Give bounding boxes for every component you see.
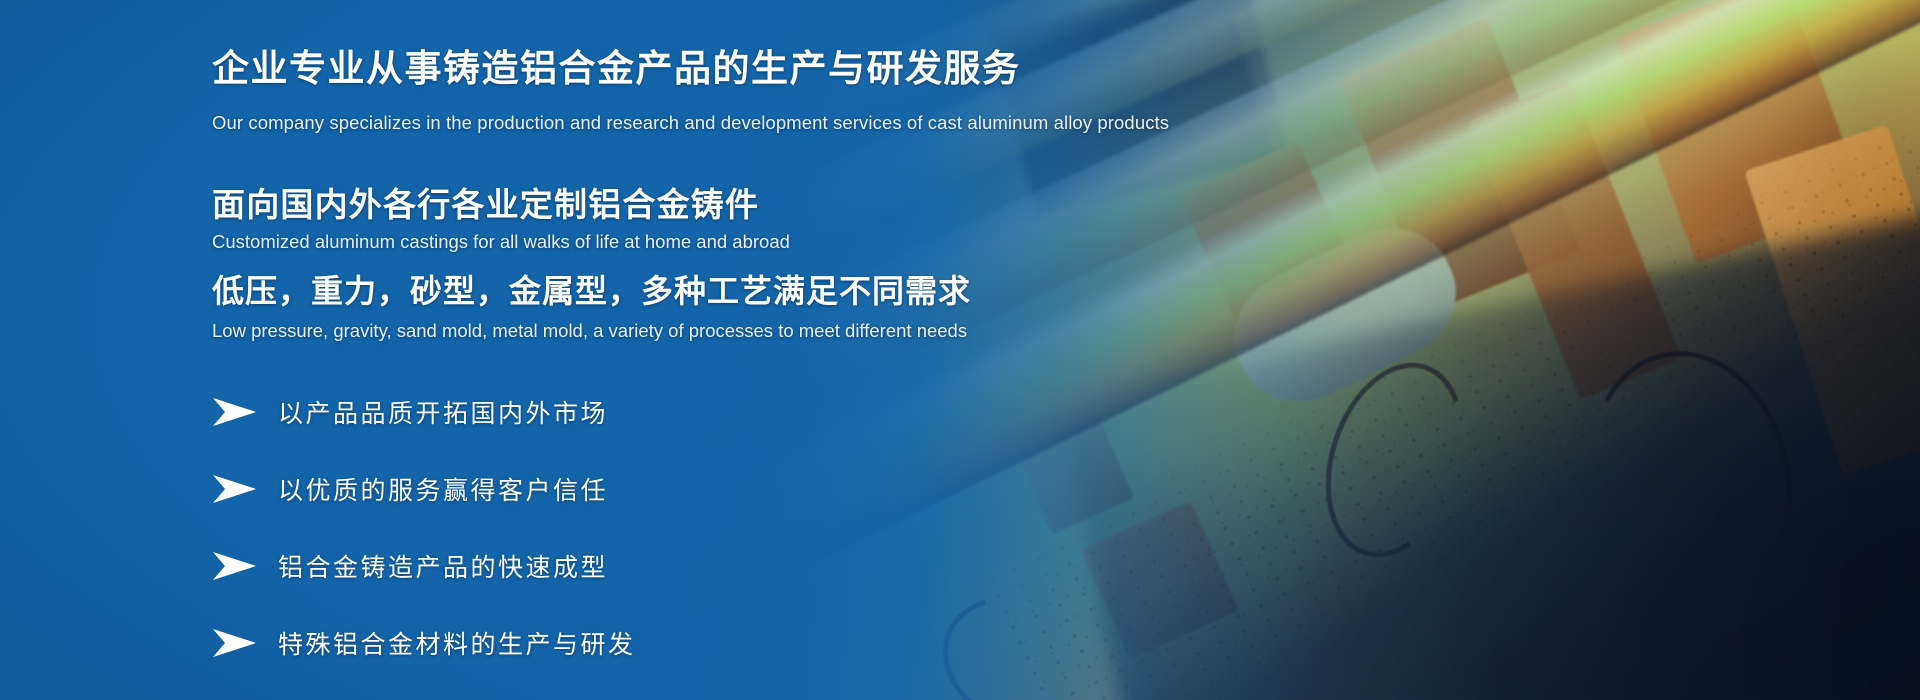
feature-list-item-label: 以产品品质开拓国内外市场 <box>278 394 608 430</box>
arrow-right-icon <box>212 474 256 504</box>
feature-list-item: 以优质的服务赢得客户信任 <box>212 465 832 513</box>
hero-banner: 企业专业从事铸造铝合金产品的生产与研发服务 Our company specia… <box>0 0 1920 700</box>
headline-primary-cn: 企业专业从事铸造铝合金产品的生产与研发服务 <box>212 48 1021 91</box>
headline-primary-en: Our company specializes in the productio… <box>212 112 1169 134</box>
feature-list-item: 特殊铝合金材料的生产与研发 <box>212 619 832 667</box>
feature-list: 以产品品质开拓国内外市场 以优质的服务赢得客户信任 铝合金铸造产品的快速成型 特… <box>212 388 832 696</box>
arrow-right-icon <box>212 551 256 581</box>
feature-list-item-label: 特殊铝合金材料的生产与研发 <box>278 625 636 661</box>
banner-content: 企业专业从事铸造铝合金产品的生产与研发服务 Our company specia… <box>212 0 1512 700</box>
headline-secondary-en: Customized aluminum castings for all wal… <box>212 231 790 253</box>
arrow-right-icon <box>212 628 256 658</box>
feature-list-item-label: 以优质的服务赢得客户信任 <box>278 471 608 507</box>
arrow-right-icon <box>212 397 256 427</box>
headline-tertiary-cn: 低压，重力，砂型，金属型，多种工艺满足不同需求 <box>212 266 971 312</box>
feature-list-item-label: 铝合金铸造产品的快速成型 <box>278 548 608 584</box>
headline-secondary-cn: 面向国内外各行各业定制铝合金铸件 <box>212 178 759 226</box>
feature-list-item: 铝合金铸造产品的快速成型 <box>212 542 832 590</box>
feature-list-item: 以产品品质开拓国内外市场 <box>212 388 832 436</box>
headline-tertiary-en: Low pressure, gravity, sand mold, metal … <box>212 320 967 342</box>
